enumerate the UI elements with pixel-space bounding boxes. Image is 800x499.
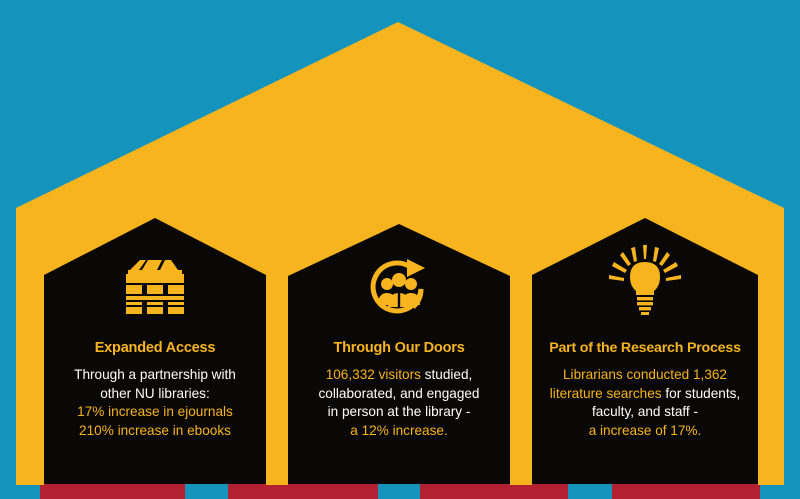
panel-body-text: faculty, and staff - [592,404,698,419]
panel-body-text: studied, [421,367,472,382]
panel-body-line: in person at the library - [294,403,504,422]
panel-body-line: 106,332 visitors studied, [294,366,504,385]
panel-body: Librarians conducted 1,362literature sea… [538,366,752,440]
panel-heading: Part of the Research Process [536,340,754,356]
panel-body-line: Librarians conducted 1,362 [538,366,752,385]
panel-body-line: collaborated, and engaged [294,385,504,404]
panel-body-line: faculty, and staff - [538,403,752,422]
panel-body-text: Librarians conducted 1,362 [563,367,727,382]
panel-body-text: collaborated, and engaged [319,386,480,401]
footer-red-segment [40,484,185,499]
panel-heading: Expanded Access [48,340,262,356]
panel-body-line: Through a partnership with [50,366,260,385]
infographic-canvas: Expanded Access Through a partnership wi… [0,0,800,499]
panel-body-text: in person at the library - [328,404,471,419]
panel-body-line: 17% increase in ejournals [50,403,260,422]
footer-yellow-notch [510,470,532,485]
panel-through-our-doors: Through Our Doors 106,332 visitors studi… [288,224,510,480]
panel-body-text: other NU libraries: [100,386,210,401]
people-cycle-icon [288,254,510,324]
panel-body-line: a 12% increase. [294,422,504,441]
panel-body-line: a increase of 17%. [538,422,752,441]
footer-yellow-notch [758,470,784,485]
panel-body: 106,332 visitors studied,collaborated, a… [294,366,504,440]
panel-body-line: literature searches for students, [538,385,752,404]
footer-yellow-notch [16,470,44,485]
footer-red-segment [228,484,378,499]
footer-red-segment [612,484,760,499]
panel-body-text: a 12% increase. [350,423,447,438]
footer-red-segment [420,484,568,499]
panel-body-text: for students, [662,386,741,401]
panel-body-line: 210% increase in ebooks [50,422,260,441]
panel-body-text: 210% increase in ebooks [79,423,231,438]
panel-body-line: other NU libraries: [50,385,260,404]
bookshelf-icon [44,256,266,318]
panel-body: Through a partnership withother NU libra… [50,366,260,440]
panel-body-text: literature searches [550,386,662,401]
panel-body-text: 106,332 visitors [326,367,421,382]
panel-body-text: 17% increase in ejournals [77,404,233,419]
panel-body-text: a increase of 17%. [589,423,702,438]
panel-body-text: Through a partnership with [74,367,236,382]
footer-yellow-notch [266,470,288,485]
panel-heading: Through Our Doors [292,340,506,356]
